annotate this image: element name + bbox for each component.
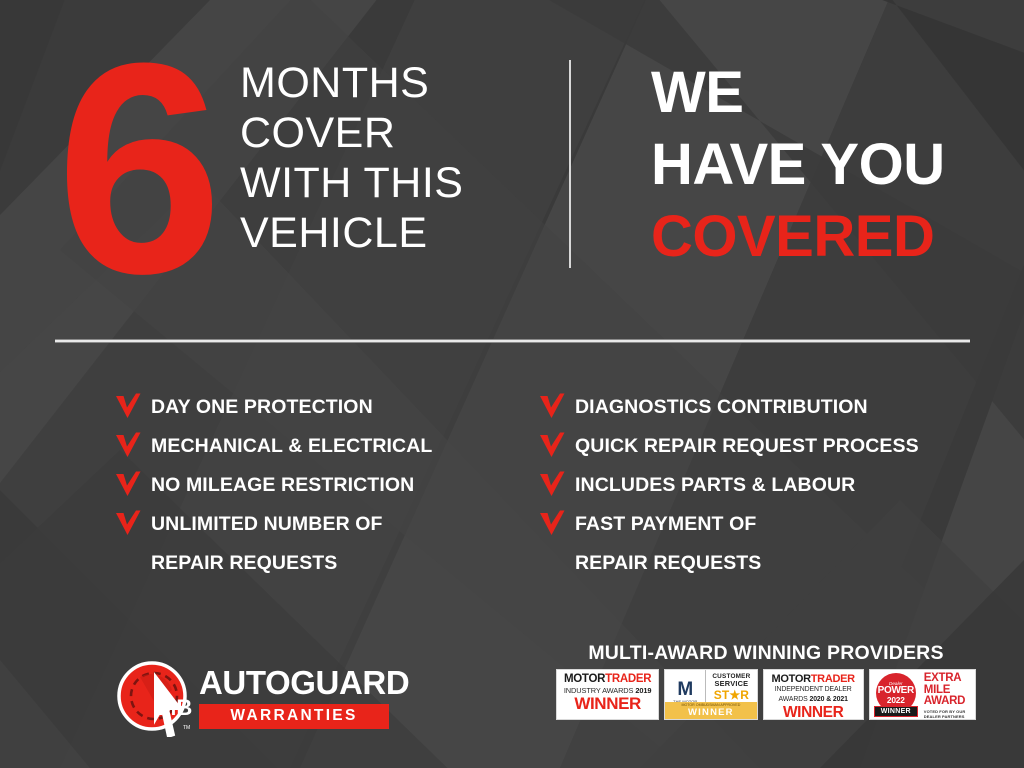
awards-badge-row: MOTORTRADER INDUSTRY AWARDS 2019 WINNER … — [556, 669, 976, 720]
feature-item: MECHANICAL & ELECTRICAL — [113, 431, 543, 470]
badge-title-line1: EXTRA — [924, 673, 973, 685]
features-right-column: DIAGNOSTICS CONTRIBUTION QUICK REPAIR RE… — [537, 392, 1007, 587]
left-headline-line-2: COVER — [240, 108, 463, 158]
right-headline: WE HAVE YOU COVERED — [651, 57, 945, 273]
feature-label: FAST PAYMENT OF — [567, 509, 756, 537]
feature-item-continuation: REPAIR REQUESTS — [537, 548, 1007, 587]
badge-brand-dark: MOTOR — [564, 673, 605, 685]
award-badge-motor-trader-2019: MOTORTRADER INDUSTRY AWARDS 2019 WINNER — [556, 669, 659, 720]
big-number: 6 — [56, 18, 217, 318]
badge-line3: ST★R — [706, 689, 756, 702]
feature-label: UNLIMITED NUMBER OF — [143, 509, 383, 537]
feature-item: DAY ONE PROTECTION — [113, 392, 543, 431]
feature-label: MECHANICAL & ELECTRICAL — [143, 431, 432, 459]
right-headline-accent: COVERED — [651, 201, 945, 273]
badge-line2: INDEPENDENT DEALER — [766, 686, 861, 695]
hero-section: 6 MONTHS COVER WITH THIS VEHICLE WE HAVE… — [0, 0, 1024, 300]
feature-label: NO MILEAGE RESTRICTION — [143, 470, 414, 498]
badge-subtitle: VOTED FOR BY OUR DEALER PARTNERS — [924, 710, 973, 720]
award-badge-motor-trader-2020-2021: MOTORTRADER INDEPENDENT DEALER AWARDS 20… — [763, 669, 864, 720]
feature-item: UNLIMITED NUMBER OF — [113, 509, 543, 548]
check-icon-placeholder — [537, 547, 567, 577]
right-headline-line-1: WE — [651, 57, 945, 129]
badge-brand-red: TRADER — [811, 673, 855, 685]
badge-result: WINNER — [665, 708, 756, 718]
right-headline-line-2: HAVE YOU — [651, 129, 945, 201]
badge-result: WINNER — [766, 704, 861, 720]
svg-text:MBi: MBi — [158, 695, 193, 720]
badge-result: WINNER — [559, 695, 656, 713]
check-icon — [113, 391, 143, 421]
autoguard-wordmark: AUTOGUARD WARRANTIES — [199, 666, 389, 729]
feature-item: NO MILEAGE RESTRICTION — [113, 470, 543, 509]
features-left-column: DAY ONE PROTECTION MECHANICAL & ELECTRIC… — [113, 392, 543, 587]
feature-item: QUICK REPAIR REQUEST PROCESS — [537, 431, 1007, 470]
badge-winner-strip: MOTOR OMBUDSMAN APPROVED WINNER — [665, 702, 756, 719]
feature-label: REPAIR REQUESTS — [143, 548, 337, 576]
feature-label: INCLUDES PARTS & LABOUR — [567, 470, 855, 498]
check-icon — [537, 508, 567, 538]
vertical-divider — [569, 60, 571, 268]
disc-year: 2022 — [887, 696, 905, 705]
badge-line3-prefix: AWARDS — [779, 696, 808, 703]
left-headline-line-3: WITH THIS — [240, 158, 463, 208]
check-icon — [537, 469, 567, 499]
feature-item-continuation: REPAIR REQUESTS — [113, 548, 543, 587]
award-badge-customer-service-star: M THE MOTOR OMBUDSMAN CUSTOMER SERVICE S… — [664, 669, 757, 720]
awards-section: MULTI-AWARD WINNING PROVIDERS MOTORTRADE… — [556, 642, 976, 720]
check-icon-placeholder — [113, 547, 143, 577]
badge-brand-dark: MOTOR — [772, 673, 811, 685]
check-icon — [113, 508, 143, 538]
mbi-mark-icon: MBi TM — [115, 659, 193, 737]
horizontal-divider — [55, 339, 970, 343]
badge-title-line3: AWARD — [924, 696, 973, 708]
check-icon — [537, 430, 567, 460]
svg-text:TM: TM — [183, 725, 190, 731]
check-icon — [113, 430, 143, 460]
brand-name: AUTOGUARD — [199, 666, 389, 700]
left-headline-line-1: MONTHS — [240, 58, 463, 108]
brand-subtitle: WARRANTIES — [199, 704, 389, 729]
feature-label: DIAGNOSTICS CONTRIBUTION — [567, 392, 868, 420]
feature-item: FAST PAYMENT OF — [537, 509, 1007, 548]
feature-label: QUICK REPAIR REQUEST PROCESS — [567, 431, 919, 459]
badge-result: WINNER — [874, 706, 918, 717]
feature-item: DIAGNOSTICS CONTRIBUTION — [537, 392, 1007, 431]
awards-title: MULTI-AWARD WINNING PROVIDERS — [556, 642, 976, 664]
check-icon — [113, 469, 143, 499]
badge-years: 2020 & 2021 — [809, 696, 847, 703]
left-headline-line-4: VEHICLE — [240, 208, 463, 258]
motor-ombudsman-icon: M — [677, 681, 693, 699]
badge-brand-red: TRADER — [605, 673, 651, 685]
autoguard-logo: MBi TM AUTOGUARD WARRANTIES — [115, 658, 390, 738]
feature-label: REPAIR REQUESTS — [567, 548, 761, 576]
check-icon — [537, 391, 567, 421]
feature-item: INCLUDES PARTS & LABOUR — [537, 470, 1007, 509]
feature-label: DAY ONE PROTECTION — [143, 392, 373, 420]
left-headline: MONTHS COVER WITH THIS VEHICLE — [240, 58, 463, 258]
award-badge-dealer-power-extra-mile: Dealer POWER 2022 WINNER EXTRA MILE AWAR… — [869, 669, 976, 720]
